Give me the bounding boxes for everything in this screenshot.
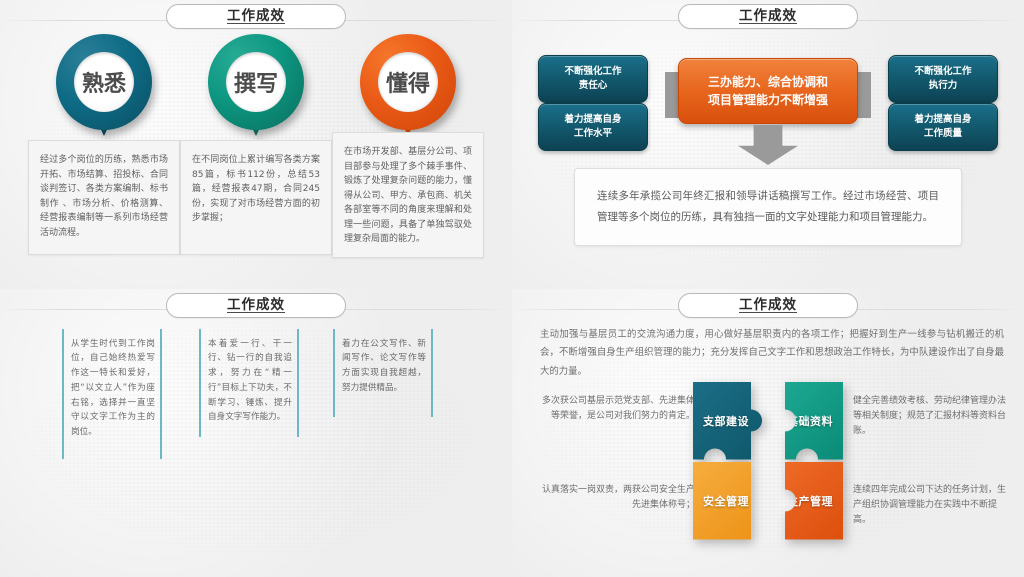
capability-chip-right-2[interactable]: 着力提高自身工作质量 [888, 103, 998, 151]
map-pin-icon[interactable]: 熟悉 [56, 34, 152, 130]
timeline-body-1: 从学生时代到工作岗位，自己始终热爱写作这一特长和爱好，把“以文立人”作为座右铭，… [71, 337, 155, 440]
map-pin-icon[interactable]: 撰写 [208, 34, 304, 130]
pin-marker-wrap-3: 懂得 [332, 34, 484, 138]
puzzle-piece-label: 基础资料 [787, 413, 833, 429]
page-title: 工作成效 [739, 9, 797, 24]
puzzle-note-text: 认真落实一岗双责，两获公司安全生产先进集体称号； [540, 483, 695, 514]
puzzle-note-text: 多次获公司基层示范党支部、先进集体等荣誉，是公司对我们努力的肯定。 [540, 394, 695, 425]
slide-4-intro-text: 主动加强与基层员工的交流沟通力度，用心做好基层职责内的各项工作；把握好到生产一线… [540, 326, 1004, 382]
pin-center-circle: 懂得 [378, 52, 438, 112]
puzzle-note-text: 连续四年完成公司下达的任务计划，生产组织协调管理能力在实践中不断提高。 [853, 483, 1008, 529]
puzzle-piece-label: 支部建设 [703, 413, 749, 429]
pin-center-circle: 熟悉 [74, 52, 134, 112]
slide-4-intro: 主动加强与基层员工的交流沟通力度，用心做好基层职责内的各项工作；把握好到生产一线… [540, 326, 1004, 382]
pin-column-1: 熟悉 经过多个岗位的历练，熟悉市场开拓、市场结算、招投标、合同谈判签订、各类方案… [28, 34, 180, 255]
pin-column-2: 撰写 在不同岗位上累计编写各类方案85篇，标书112份，总结53篇，经营报表47… [180, 34, 332, 255]
pin-marker-wrap-2: 撰写 [180, 34, 332, 138]
page-title: 工作成效 [227, 298, 285, 313]
puzzle-piece-bottom-right[interactable]: 生产管理 [769, 462, 843, 540]
pin-label: 熟悉 [82, 66, 126, 98]
puzzle-piece-top-left[interactable]: 支部建设 [693, 382, 767, 460]
timeline-body-2: 本着爱一行、干一行、钻一行的自我追求，努力在“精一行”目标上下功夫，不断学习、锤… [208, 337, 292, 426]
slide-3-timeline: 工作成效 从学生时代到工作岗位，自己始终热爱写作这一特长和爱好，把“以文立人”作… [0, 289, 512, 577]
slide-2-convergence: 工作成效 不断强化工作责任心 着力提高自身工作水平 不断强化工作执行力 着力提高… [512, 0, 1024, 289]
pin-card-1: 经过多个岗位的历练，熟悉市场开拓、市场结算、招投标、合同谈判签订、各类方案编制、… [28, 140, 180, 255]
slide-1-header-pill: 工作成效 [166, 4, 346, 29]
arrow-down-icon [738, 125, 798, 165]
slide-2-note-card: 连续多年承揽公司年终汇报和领导讲话稿撰写工作。经过市场经营、项目管理等多个岗位的… [574, 168, 962, 246]
pin-card-body: 在市场开发部、基层分公司、项目部参与处理了多个棘手事件、锻炼了处理复杂问题的能力… [344, 145, 472, 247]
slide-deck-grid: 工作成效 熟悉 经过多个岗位的历练，熟悉市场开拓、市场结算、招投标、合同谈判签订… [0, 0, 1024, 577]
puzzle-piece-bottom-left[interactable]: 安全管理 [693, 462, 767, 540]
slide-2-note-text: 连续多年承揽公司年终汇报和领导讲话稿撰写工作。经过市场经营、项目管理等多个岗位的… [597, 186, 939, 228]
page-title: 工作成效 [227, 9, 285, 24]
pin-card-body: 经过多个岗位的历练，熟悉市场开拓、市场结算、招投标、合同谈判签订、各类方案编制、… [40, 153, 168, 240]
timeline-text-1: 从学生时代到工作岗位，自己始终热爱写作这一特长和爱好，把“以文立人”作为座右铭，… [62, 329, 162, 446]
capability-chip-left-2[interactable]: 着力提高自身工作水平 [538, 103, 648, 151]
timeline-text-3: 着力在公文写作、新闻写作、论文写作等方面实现自我超越，努力提供精品。 [333, 329, 433, 402]
pin-center-circle: 撰写 [226, 52, 286, 112]
timeline-column-1: 从学生时代到工作岗位，自己始终热爱写作这一特长和爱好，把“以文立人”作为座右铭，… [62, 329, 162, 459]
slide-4-header-pill: 工作成效 [678, 293, 858, 318]
convergence-diagram: 不断强化工作责任心 着力提高自身工作水平 不断强化工作执行力 着力提高自身工作质… [512, 0, 1024, 289]
pin-card-2: 在不同岗位上累计编写各类方案85篇，标书112份，总结53篇，经营报表47期，合… [180, 140, 332, 255]
puzzle-piece-label: 安全管理 [703, 493, 749, 509]
puzzle-note-bottom-right: 连续四年完成公司下达的任务计划，生产组织协调管理能力在实践中不断提高。 [853, 483, 1008, 529]
map-pin-icon[interactable]: 懂得 [360, 34, 456, 130]
puzzle-diagram: 主动加强与基层员工的交流沟通力度，用心做好基层职责内的各项工作；把握好到生产一线… [512, 289, 1024, 577]
pin-label: 懂得 [386, 66, 430, 98]
puzzle-note-bottom-left: 认真落实一岗双责，两获公司安全生产先进集体称号； [540, 483, 695, 514]
slide-2-header-pill: 工作成效 [678, 4, 858, 29]
capability-chip-left-1[interactable]: 不断强化工作责任心 [538, 55, 648, 103]
timeline-column-2: 本着爱一行、干一行、钻一行的自我追求，努力在“精一行”目标上下功夫，不断学习、锤… [199, 329, 299, 437]
puzzle-note-top-right: 健全完善绩效考核、劳动纪律管理办法等相关制度；规范了汇报材料等资料台账。 [853, 394, 1008, 440]
puzzle-group: 支部建设 基础资料 安全管理 生产管理 [693, 382, 843, 540]
slide-4-puzzle: 工作成效 主动加强与基层员工的交流沟通力度，用心做好基层职责内的各项工作；把握好… [512, 289, 1024, 577]
pin-card-body: 在不同岗位上累计编写各类方案85篇，标书112份，总结53篇，经营报表47期，合… [192, 153, 320, 226]
pin-marker-wrap-1: 熟悉 [28, 34, 180, 138]
center-outcome-box[interactable]: 三办能力、综合协调和项目管理能力不断增强 [678, 58, 858, 124]
slide-3-header-pill: 工作成效 [166, 293, 346, 318]
timeline-body-3: 着力在公文写作、新闻写作、论文写作等方面实现自我超越，努力提供精品。 [342, 337, 426, 396]
timeline-column-3: 着力在公文写作、新闻写作、论文写作等方面实现自我超越，努力提供精品。 [333, 329, 433, 417]
page-title: 工作成效 [739, 298, 797, 313]
pin-column-3: 懂得 在市场开发部、基层分公司、项目部参与处理了多个棘手事件、锻炼了处理复杂问题… [332, 34, 484, 258]
pin-row: 熟悉 经过多个岗位的历练，熟悉市场开拓、市场结算、招投标、合同谈判签订、各类方案… [0, 0, 512, 289]
capability-chip-right-1[interactable]: 不断强化工作执行力 [888, 55, 998, 103]
slide-1-pins: 工作成效 熟悉 经过多个岗位的历练，熟悉市场开拓、市场结算、招投标、合同谈判签订… [0, 0, 512, 289]
puzzle-note-top-left: 多次获公司基层示范党支部、先进集体等荣誉，是公司对我们努力的肯定。 [540, 394, 695, 425]
puzzle-piece-top-right[interactable]: 基础资料 [769, 382, 843, 460]
timeline-text-2: 本着爱一行、干一行、钻一行的自我追求，努力在“精一行”目标上下功夫，不断学习、锤… [199, 329, 299, 432]
timeline-diagram: 从学生时代到工作岗位，自己始终热爱写作这一特长和爱好，把“以文立人”作为座右铭，… [0, 289, 512, 577]
puzzle-piece-label: 生产管理 [787, 493, 833, 509]
pin-card-3: 在市场开发部、基层分公司、项目部参与处理了多个棘手事件、锻炼了处理复杂问题的能力… [332, 132, 484, 258]
pin-label: 撰写 [234, 66, 278, 98]
puzzle-note-text: 健全完善绩效考核、劳动纪律管理办法等相关制度；规范了汇报材料等资料台账。 [853, 394, 1008, 440]
